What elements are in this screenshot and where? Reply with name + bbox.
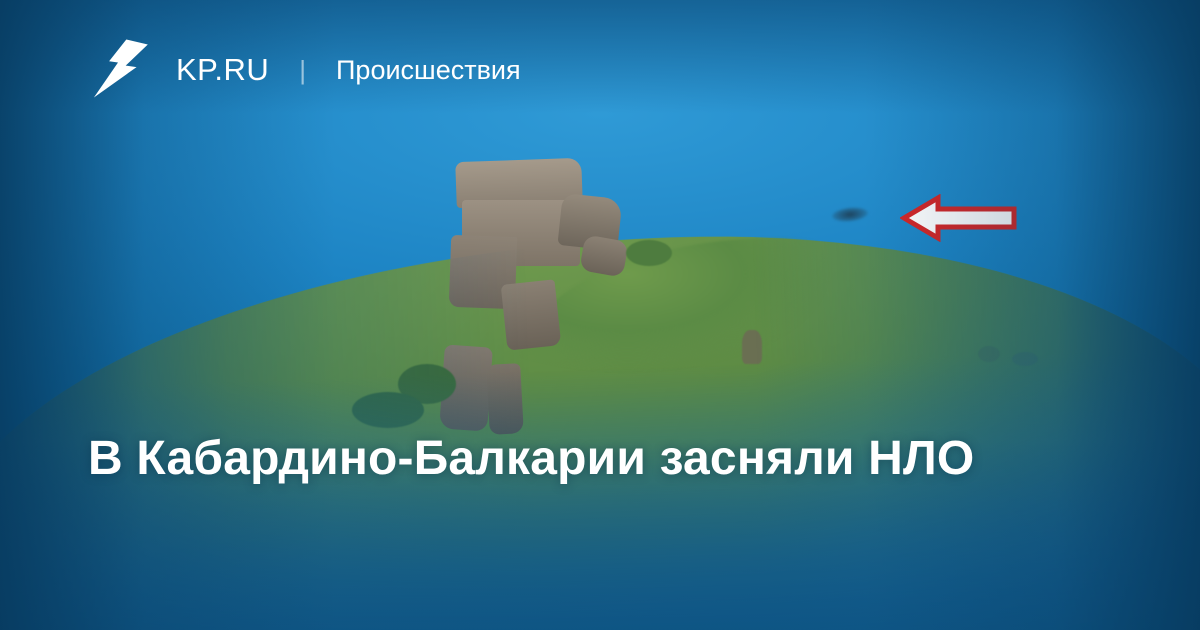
kp-bird-logo-icon[interactable] bbox=[92, 39, 150, 101]
card-header: KP.RU | Происшествия bbox=[0, 0, 1200, 140]
social-share-card: KP.RU | Происшествия В Кабардино-Балкари… bbox=[0, 0, 1200, 630]
rubric-label[interactable]: Происшествия bbox=[336, 55, 521, 86]
brand-name[interactable]: KP.RU bbox=[176, 52, 269, 88]
headline-text: В Кабардино-Балкарии засняли НЛО bbox=[88, 428, 1048, 489]
header-separator: | bbox=[299, 55, 306, 86]
brand-block[interactable]: KP.RU | Происшествия bbox=[92, 39, 521, 101]
